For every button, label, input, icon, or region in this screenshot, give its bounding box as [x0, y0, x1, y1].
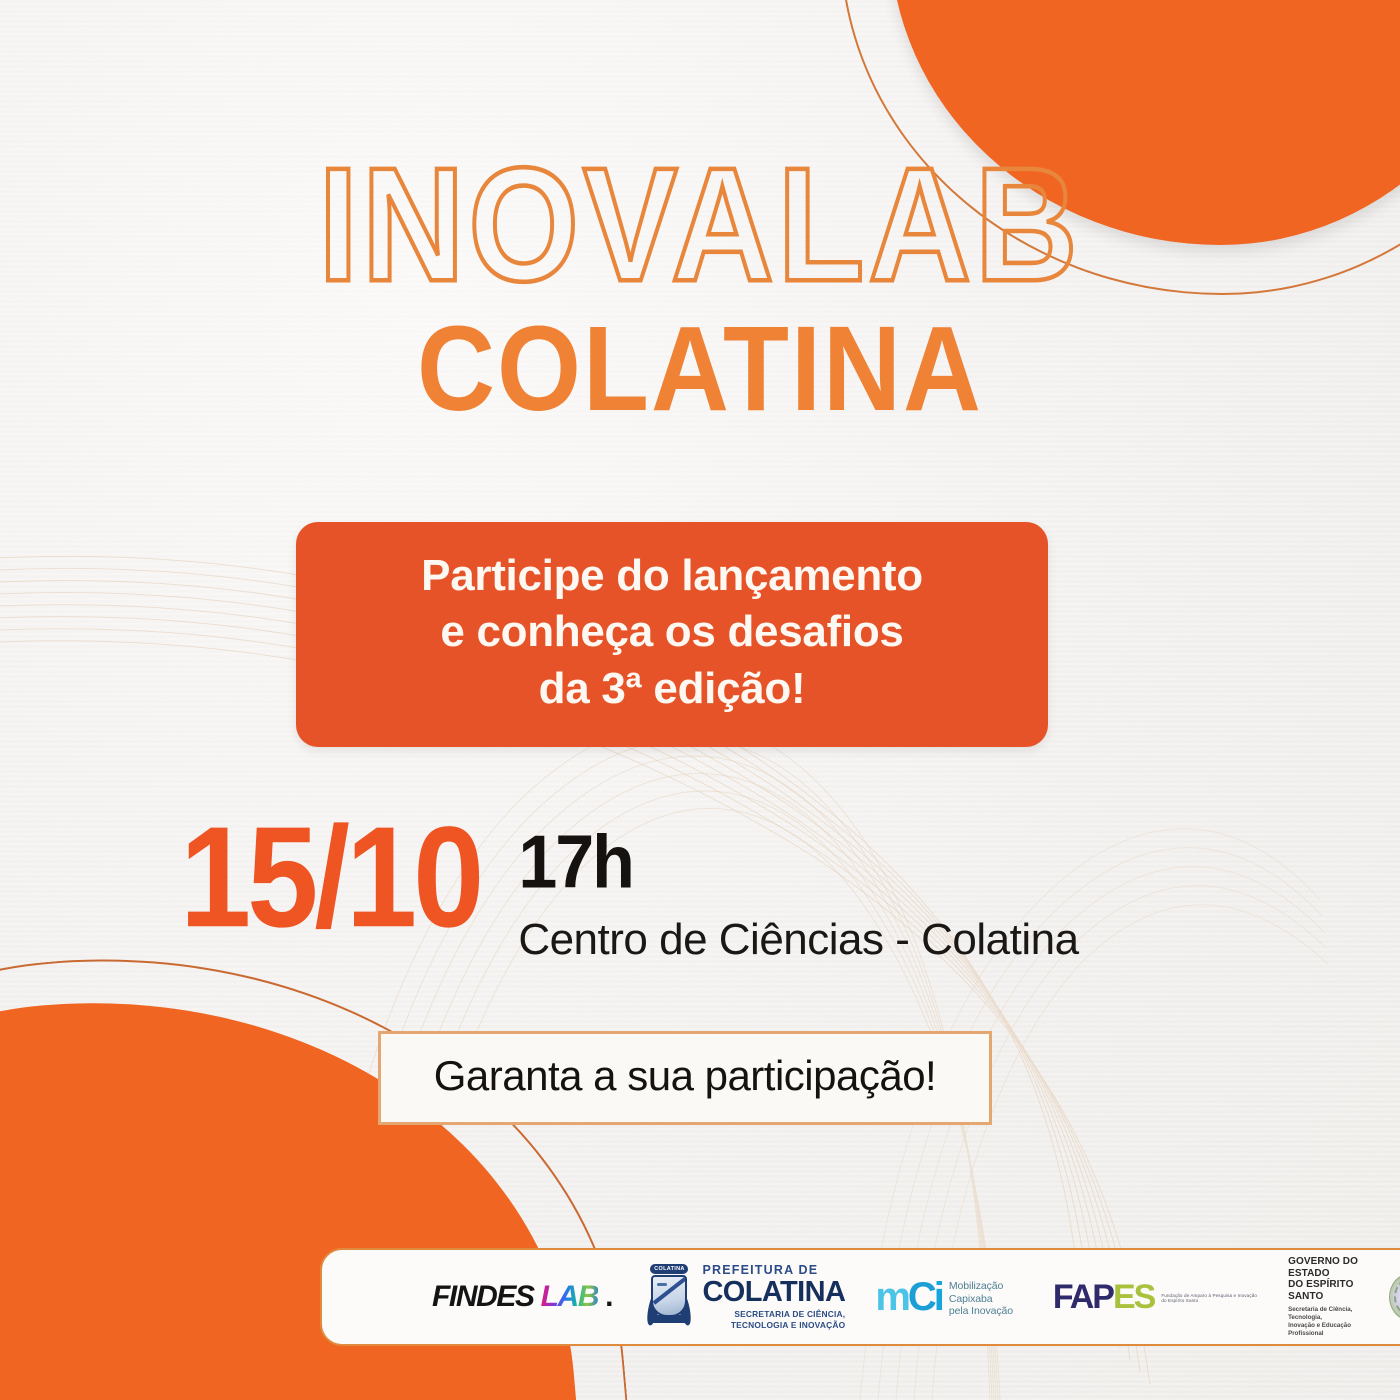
findes-lab-logo: FINDES LAB .: [432, 1280, 613, 1314]
mci-letter-c: C: [908, 1275, 934, 1319]
mci-wordmark: mCi: [875, 1280, 942, 1314]
governo-wordmark-block: GOVERNO DO ESTADO DO ESPÍRITO SANTO Secr…: [1288, 1256, 1384, 1338]
governo-state-seal-icon: [1389, 1274, 1400, 1320]
fapes-tagline: Fundação de Amparo à Pesquisa e Inovação…: [1161, 1294, 1258, 1303]
event-venue: Centro de Ciências - Colatina: [518, 915, 1078, 965]
governo-espirito-santo-logo: GOVERNO DO ESTADO DO ESPÍRITO SANTO Secr…: [1288, 1256, 1400, 1338]
prefeitura-line-3: SECRETARIA DE CIÊNCIA, TECNOLOGIA E INOV…: [702, 1309, 845, 1330]
banner-line-2: e conheça os desafios: [326, 604, 1018, 660]
poster-canvas: INOVALAB COLATINA Participe do lançament…: [0, 0, 1400, 1400]
mci-letter-i: i: [934, 1275, 942, 1319]
poster-title-block: INOVALAB COLATINA: [0, 148, 1400, 416]
mci-logo: mCi Mobilização Capixaba pela Inovação: [875, 1276, 1023, 1318]
prefeitura-colatina-logo: COLATINA PREFEITURA DE COLATINA SECRETAR…: [643, 1264, 845, 1331]
title-inovalab: INOVALAB: [0, 148, 1400, 303]
mci-letter-m: m: [875, 1275, 908, 1319]
banner-line-3: da 3ª edição!: [326, 661, 1018, 717]
findes-wordmark: FINDES: [432, 1280, 534, 1314]
crest-banner-label: COLATINA: [650, 1264, 688, 1274]
crest-shield-icon: [651, 1275, 687, 1317]
governo-line-2: Secretaria de Ciência, Tecnologia, Inova…: [1288, 1306, 1384, 1338]
event-details-row: 15/10 17h Centro de Ciências - Colatina: [180, 812, 1079, 965]
mci-tagline: Mobilização Capixaba pela Inovação: [949, 1280, 1023, 1318]
prefeitura-wordmark-block: PREFEITURA DE COLATINA SECRETARIA DE CIÊ…: [702, 1264, 845, 1331]
fapes-logo: FAPES Fundação de Amparo à Pesquisa e In…: [1053, 1280, 1258, 1314]
participation-cta-text: Garanta a sua participação!: [401, 1052, 969, 1100]
title-colatina: COLATINA: [0, 308, 1400, 429]
prefeitura-line-1: PREFEITURA DE: [702, 1264, 845, 1277]
fapes-letters-es: ES: [1113, 1278, 1154, 1316]
sponsor-logo-bar: FINDES LAB . COLATINA PREFEITURA DE COLA…: [320, 1248, 1400, 1346]
participation-cta-box[interactable]: Garanta a sua participação!: [378, 1031, 992, 1125]
event-time-venue-column: 17h Centro de Ciências - Colatina: [518, 812, 1078, 965]
findes-period: .: [605, 1280, 613, 1314]
fapes-letters-fap: FAP: [1053, 1278, 1113, 1316]
fapes-wordmark: FAPES: [1053, 1280, 1154, 1314]
colatina-crest-icon: COLATINA: [643, 1264, 695, 1330]
event-time: 17h: [518, 826, 1078, 898]
governo-line-1: GOVERNO DO ESTADO DO ESPÍRITO SANTO: [1288, 1256, 1384, 1303]
event-date: 15/10: [180, 812, 480, 944]
lab-wordmark: LAB: [541, 1280, 598, 1314]
prefeitura-line-2: COLATINA: [702, 1277, 845, 1307]
banner-line-1: Participe do lançamento: [326, 548, 1018, 604]
call-to-action-banner: Participe do lançamento e conheça os des…: [296, 522, 1048, 747]
